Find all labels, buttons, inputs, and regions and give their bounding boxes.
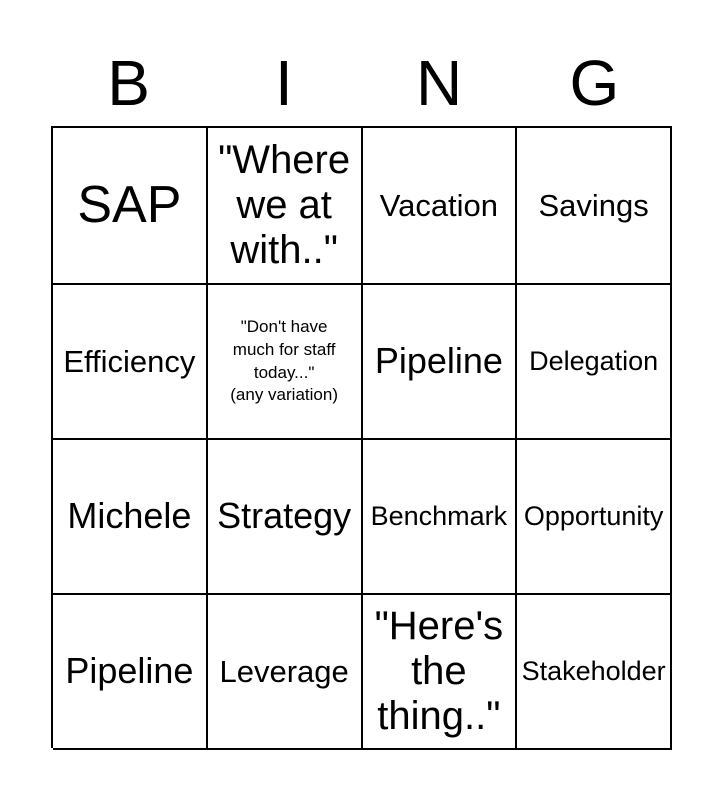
bingo-header-letter-3: N: [362, 48, 517, 118]
bingo-cell-label: Efficiency: [54, 344, 205, 380]
bingo-cell-r4c1[interactable]: Pipeline: [53, 595, 208, 750]
bingo-cell-r2c3[interactable]: Pipeline: [363, 285, 518, 440]
bingo-cell-r3c1[interactable]: Michele: [53, 440, 208, 595]
bingo-cell-label: "Where we at with..": [209, 138, 360, 272]
bingo-cell-label: Pipeline: [364, 341, 515, 381]
bingo-cell-r2c2[interactable]: "Don't have much for staff today..." (an…: [208, 285, 363, 440]
bingo-cell-label: Opportunity: [518, 501, 669, 533]
bingo-cell-r3c4[interactable]: Opportunity: [517, 440, 672, 595]
bingo-cell-r3c2[interactable]: Strategy: [208, 440, 363, 595]
bingo-cell-label: Strategy: [209, 496, 360, 536]
bingo-cell-label: "Don't have much for staff today..." (an…: [209, 316, 360, 408]
bingo-header-row: B I N G: [51, 40, 672, 126]
bingo-cell-r4c3[interactable]: "Here's the thing..": [363, 595, 518, 750]
bingo-cell-label: Leverage: [209, 654, 360, 690]
bingo-cell-label: Benchmark: [364, 501, 515, 533]
bingo-cell-label: Savings: [518, 188, 669, 224]
bingo-cell-label: Delegation: [518, 346, 669, 378]
bingo-header-letter-2: I: [206, 48, 361, 118]
bingo-cell-r3c3[interactable]: Benchmark: [363, 440, 518, 595]
bingo-cell-r2c1[interactable]: Efficiency: [53, 285, 208, 440]
bingo-cell-r2c4[interactable]: Delegation: [517, 285, 672, 440]
bingo-cell-r1c2[interactable]: "Where we at with..": [208, 128, 363, 285]
bingo-cell-label: SAP: [54, 178, 205, 233]
bingo-cell-r4c4[interactable]: Stakeholder: [517, 595, 672, 750]
bingo-grid: SAP "Where we at with.." Vacation Saving…: [51, 126, 672, 748]
bingo-header-letter-1: B: [51, 48, 206, 118]
bingo-card: B I N G SAP "Where we at with.." Vacatio…: [0, 0, 723, 800]
bingo-cell-label: Stakeholder: [518, 656, 669, 688]
bingo-cell-r1c1[interactable]: SAP: [53, 128, 208, 285]
bingo-cell-r4c2[interactable]: Leverage: [208, 595, 363, 750]
bingo-cell-r1c3[interactable]: Vacation: [363, 128, 518, 285]
bingo-header-letter-4: G: [517, 48, 672, 118]
bingo-cell-label: Vacation: [364, 188, 515, 224]
bingo-cell-r1c4[interactable]: Savings: [517, 128, 672, 285]
bingo-cell-label: Michele: [54, 496, 205, 536]
bingo-cell-label: Pipeline: [54, 651, 205, 691]
bingo-cell-label: "Here's the thing..": [364, 604, 515, 738]
